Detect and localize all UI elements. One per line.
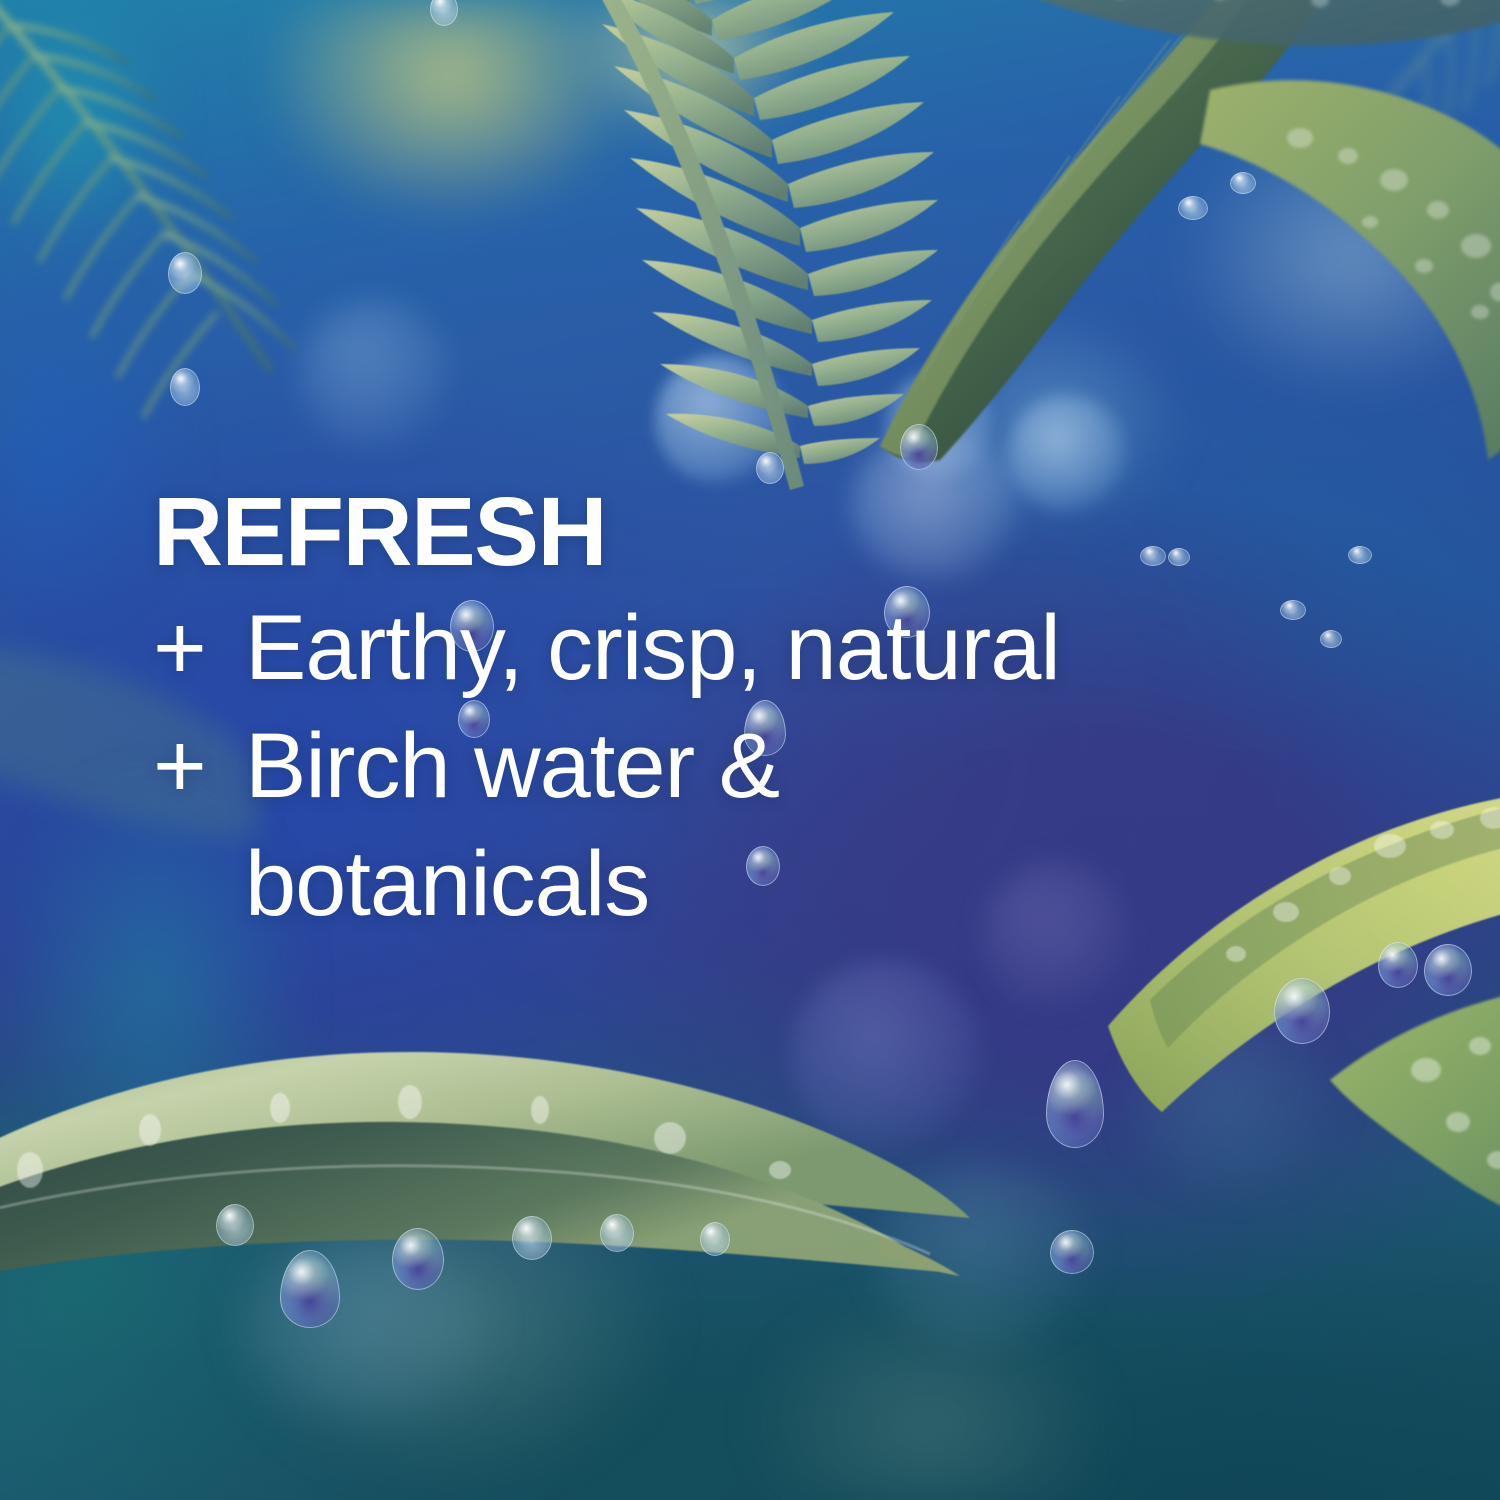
list-item-label: Earthy, crisp, natural — [245, 590, 1353, 708]
marketing-copy-block: REFRESH + Earthy, crisp, natural + Birch… — [153, 487, 1353, 943]
list-item-label: botanicals — [245, 826, 1353, 944]
water-droplet — [1178, 196, 1208, 220]
water-droplet-falling — [1050, 1230, 1094, 1274]
bokeh-disc — [790, 960, 980, 1150]
water-droplet-hanging — [700, 1222, 730, 1256]
water-droplet — [1230, 172, 1256, 194]
water-droplet — [168, 252, 202, 294]
water-droplet-hanging — [392, 1228, 444, 1290]
fern-frond-icon — [1240, 0, 1500, 260]
bokeh-disc — [240, 1240, 500, 1420]
leaf-shape — [980, 0, 1500, 190]
plus-icon: + — [153, 590, 245, 708]
list-item-continuation: botanicals — [153, 826, 1353, 944]
bokeh-disc — [300, 300, 450, 450]
water-droplet-hanging — [600, 1214, 634, 1252]
bokeh-disc — [885, 372, 993, 480]
water-droplet — [900, 424, 938, 470]
water-droplet — [756, 452, 784, 484]
fern-frond-icon — [0, 0, 500, 530]
benefit-list: + Earthy, crisp, natural + Birch water &… — [153, 590, 1353, 943]
water-droplet — [1274, 978, 1330, 1044]
bokeh-disc — [870, 1165, 1100, 1345]
water-droplet — [1424, 944, 1472, 996]
leaf-shape — [700, 0, 1340, 520]
water-droplet-hanging — [512, 1216, 552, 1260]
list-item-label: Birch water & — [245, 708, 1353, 826]
bokeh-disc — [655, 355, 785, 485]
water-droplet — [170, 368, 200, 406]
list-item: + Earthy, crisp, natural — [153, 590, 1353, 708]
plus-icon: + — [153, 708, 245, 826]
bokeh-disc — [1130, 1020, 1340, 1190]
water-droplet-hanging — [216, 1204, 254, 1246]
leaf-shape — [0, 1010, 970, 1340]
water-droplet — [430, 0, 458, 26]
leaf-shape — [1330, 950, 1500, 1280]
list-item: + Birch water & — [153, 708, 1353, 826]
fern-frond-icon — [360, 0, 1060, 550]
page-title: REFRESH — [153, 487, 1353, 576]
leaf-shape — [1180, 60, 1500, 480]
water-droplet-falling — [1046, 1060, 1104, 1148]
water-droplet — [1378, 942, 1418, 988]
water-droplet-hanging — [280, 1250, 340, 1328]
refresh-botanical-banner: REFRESH + Earthy, crisp, natural + Birch… — [0, 0, 1500, 1500]
